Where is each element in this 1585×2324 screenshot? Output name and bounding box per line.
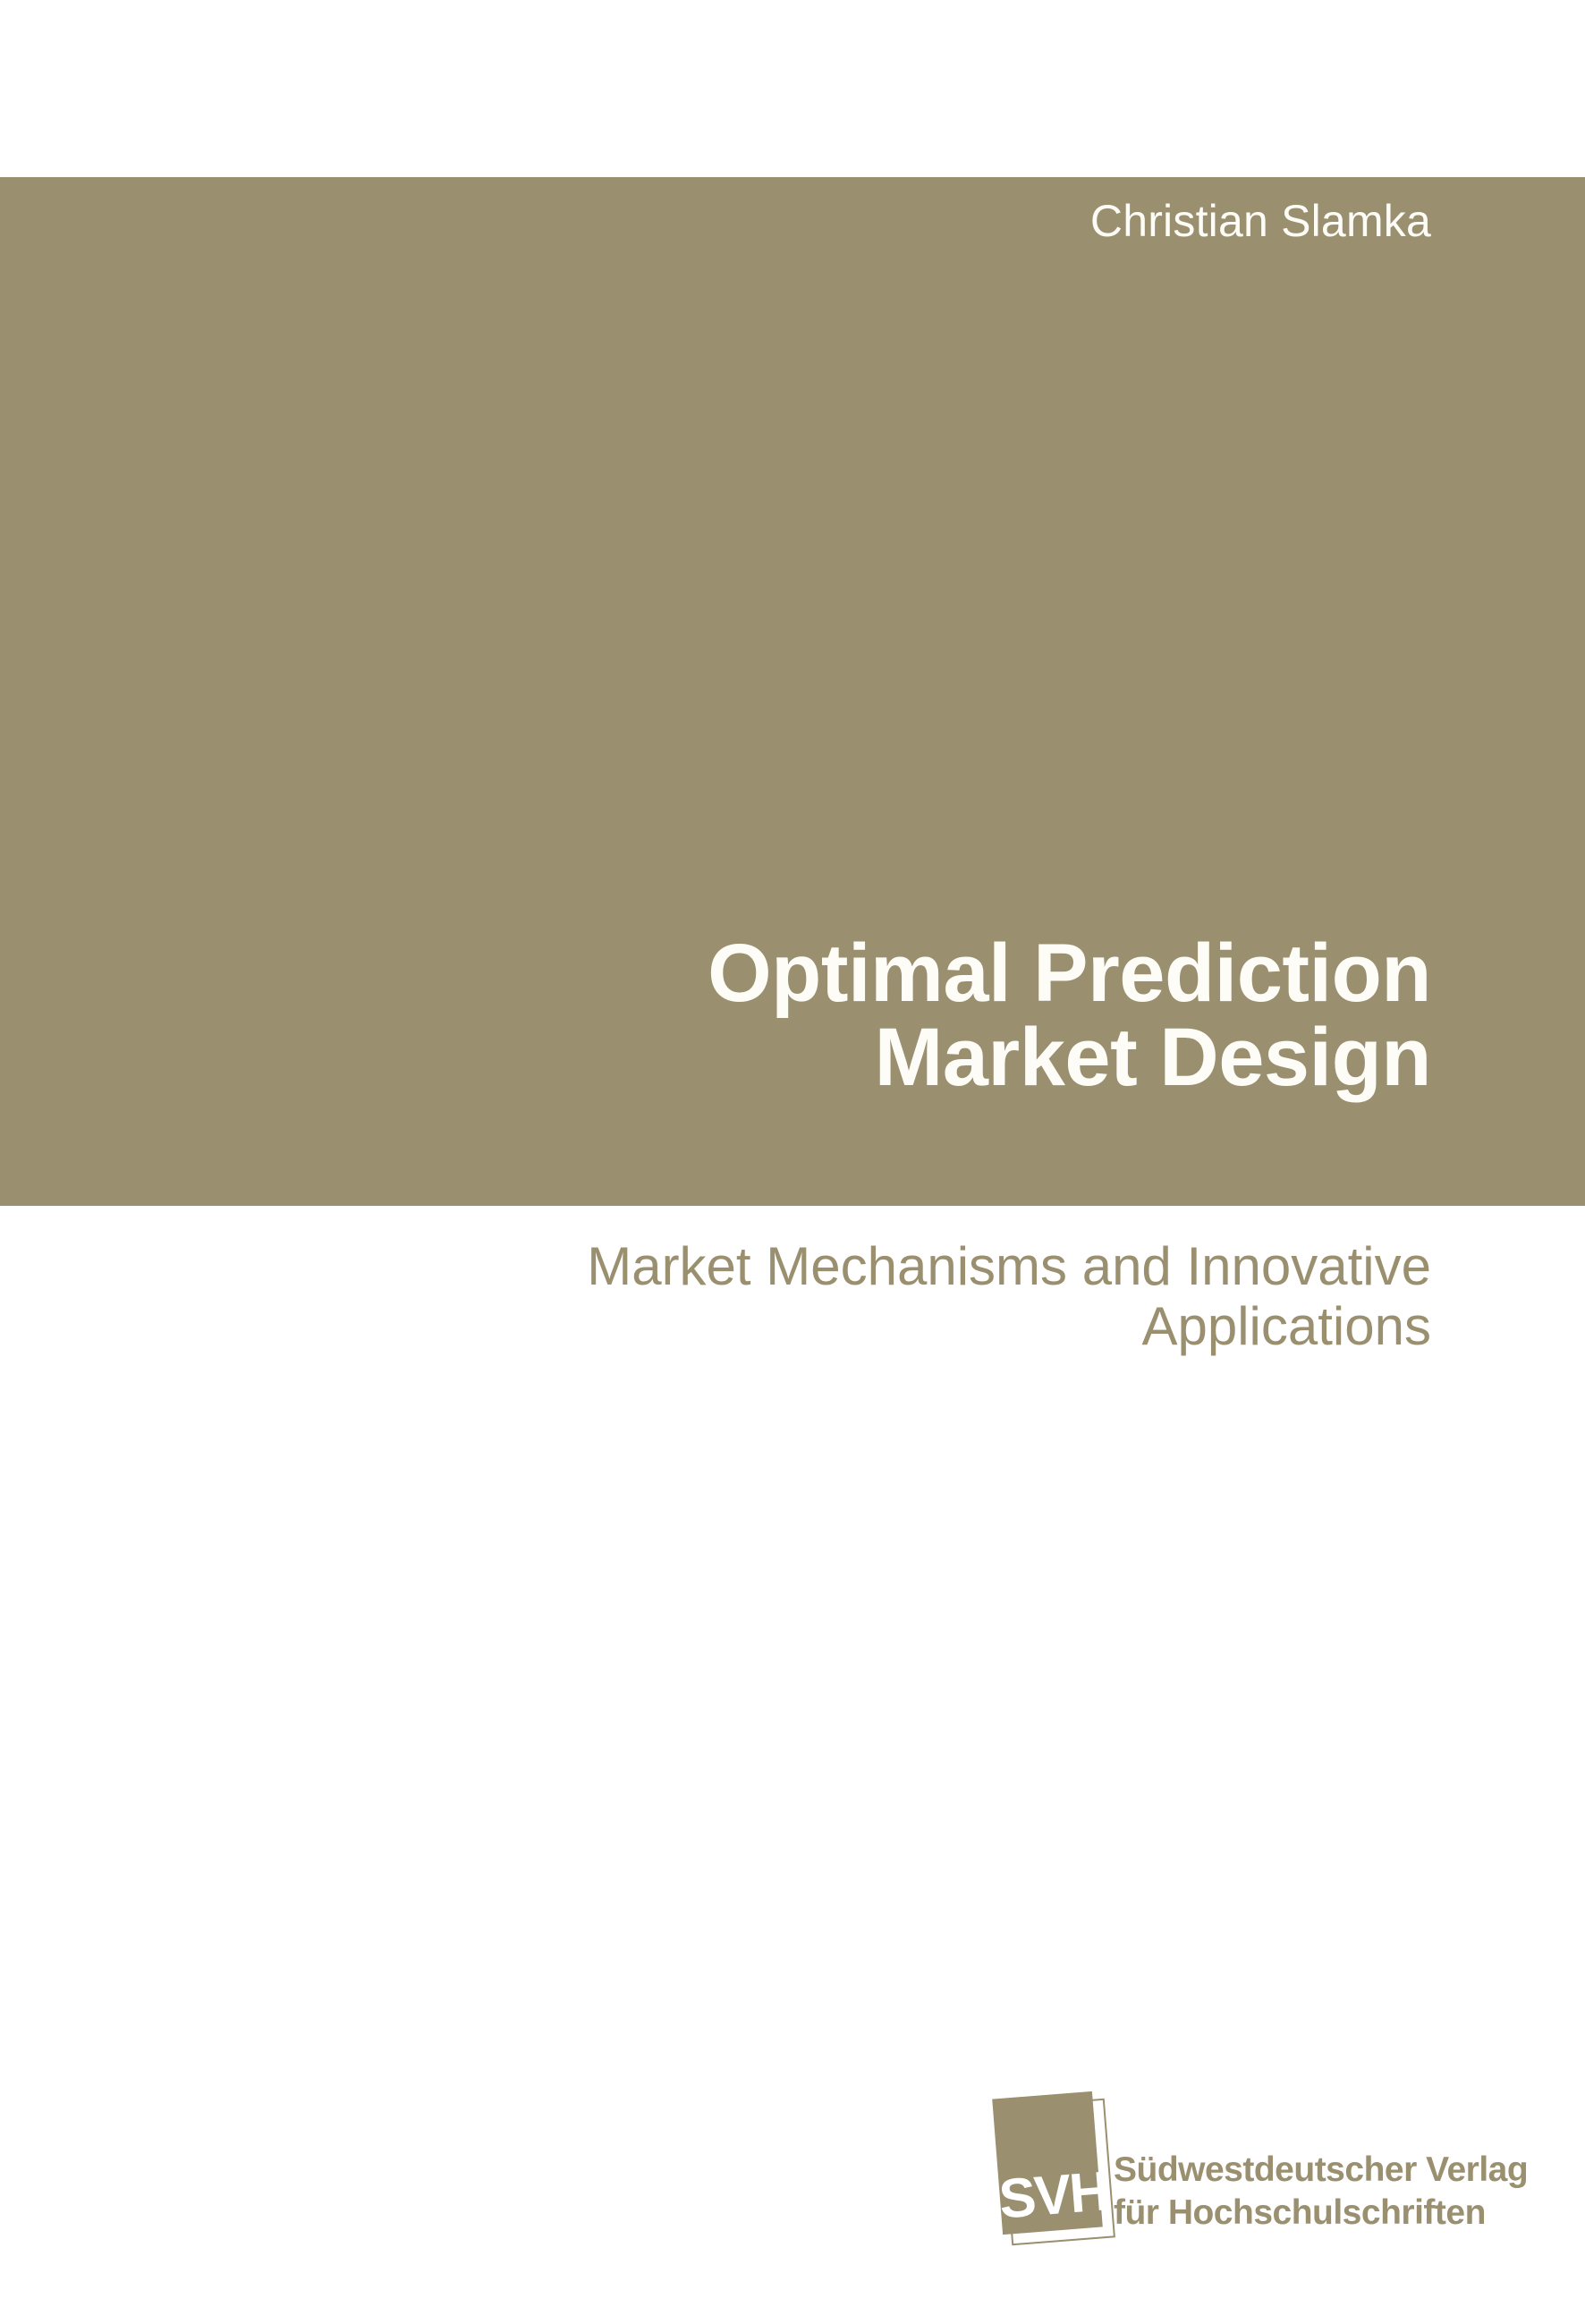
book-cover: Christian Slamka Optimal Prediction Mark… — [0, 0, 1585, 2324]
publisher-name: Südwestdeutscher Verlag für Hochschulsch… — [1114, 2149, 1528, 2234]
book-title-line-1: Optimal Prediction — [107, 932, 1431, 1016]
book-title: Optimal Prediction Market Design — [107, 932, 1431, 1100]
publisher-name-line-1: Südwestdeutscher Verlag — [1114, 2149, 1528, 2192]
author-name: Christian Slamka — [358, 197, 1431, 246]
book-subtitle: Market Mechanisms and Innovative Applica… — [107, 1236, 1431, 1356]
publisher-logo: SVH Südwestdeutscher Verlag für Hochschu… — [996, 2093, 1461, 2263]
book-subtitle-line-2: Applications — [107, 1296, 1431, 1356]
publisher-abbreviation: SVH — [997, 2164, 1107, 2227]
publisher-name-line-2: für Hochschulschriften — [1114, 2192, 1528, 2235]
book-title-line-2: Market Design — [107, 1016, 1431, 1100]
book-icon: SVH — [996, 2093, 1110, 2243]
book-subtitle-line-1: Market Mechanisms and Innovative — [107, 1236, 1431, 1296]
